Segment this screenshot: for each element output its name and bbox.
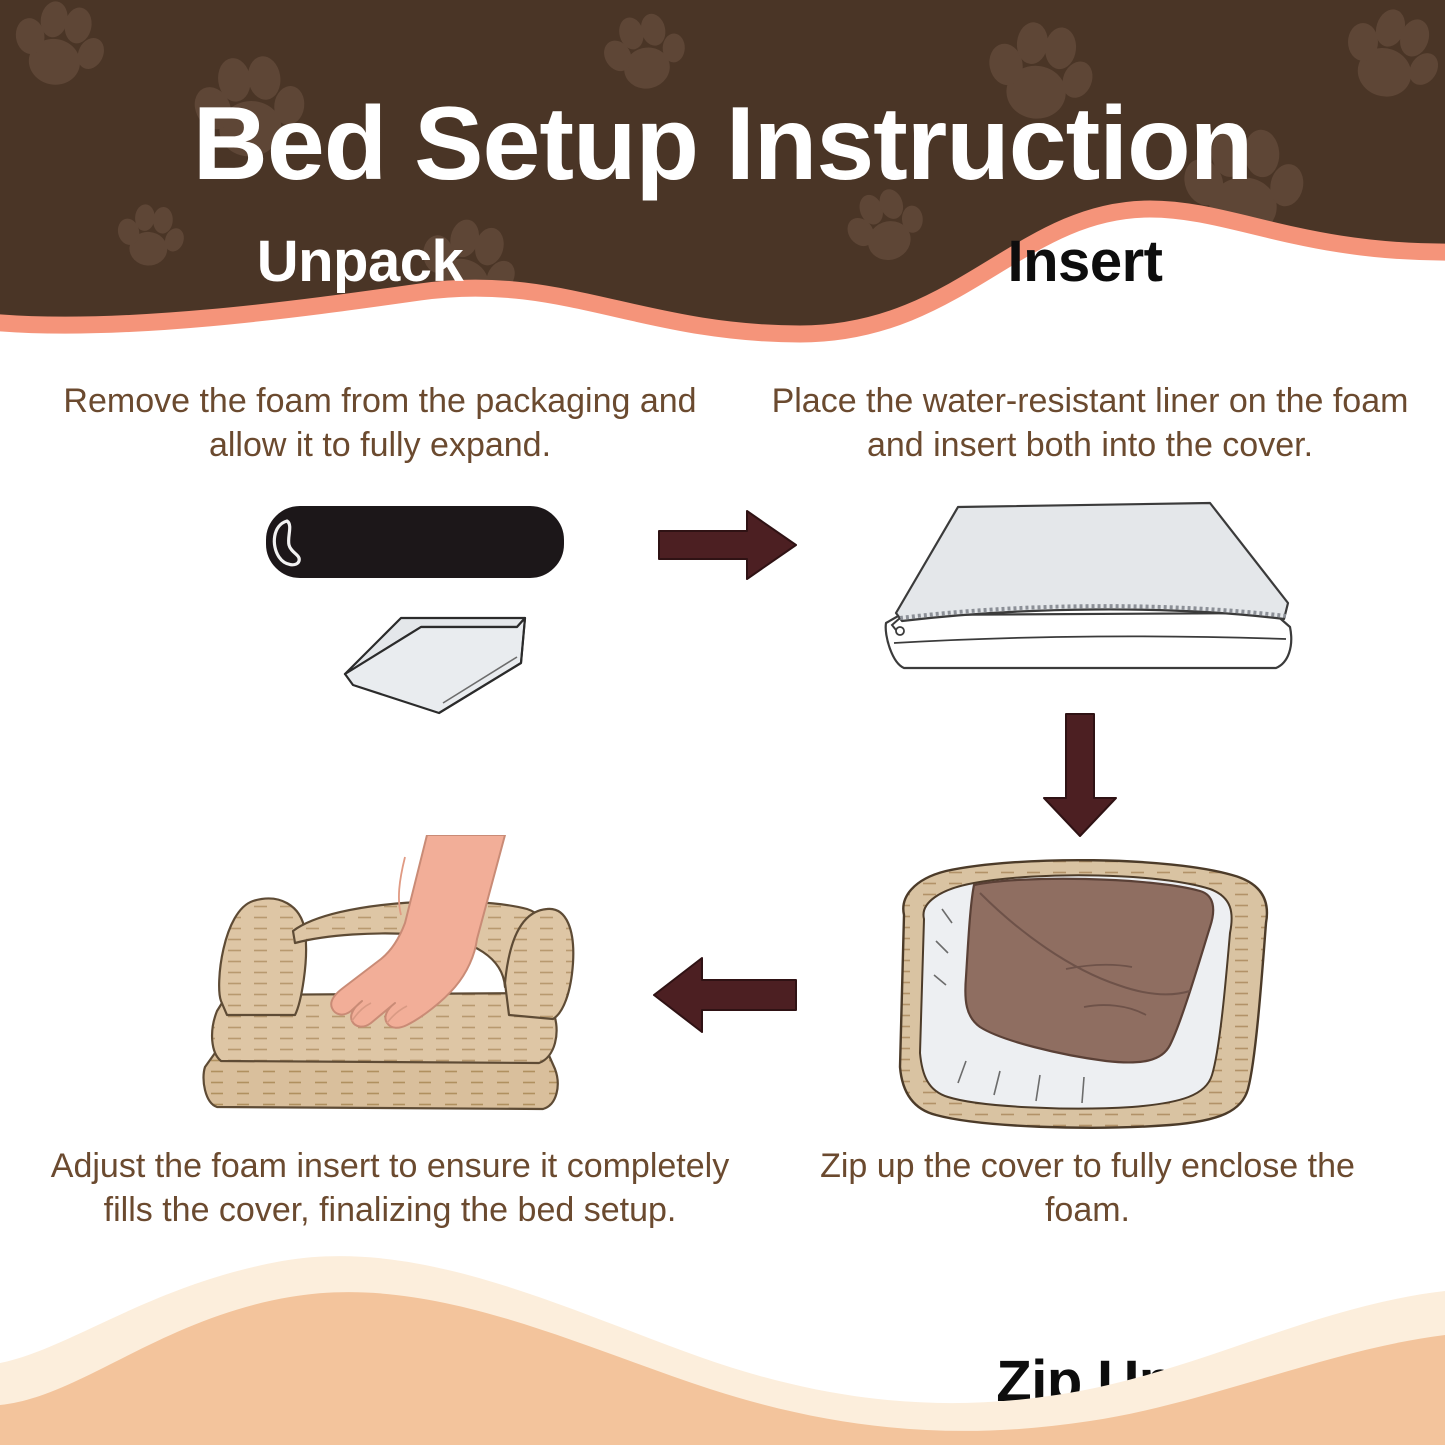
rolled-foam-icon: [267, 507, 563, 577]
arrow-left-icon: [654, 958, 796, 1032]
page-title: Bed Setup Instruction: [0, 88, 1445, 200]
arrow-insert-to-zipup: [1020, 710, 1140, 840]
step-label-insert: Insert: [725, 228, 1445, 295]
bed-bolster-left: [219, 899, 306, 1015]
cushion-top-panel: [896, 503, 1288, 621]
step-label-unpack: Unpack: [0, 228, 720, 295]
arrow-right-icon: [659, 511, 796, 579]
caption-zipup: Zip up the cover to fully enclose the fo…: [775, 1145, 1400, 1232]
liner-sheet-icon: [345, 618, 525, 713]
arrow-unpack-to-insert: [655, 505, 800, 585]
illustration-hand-pressing-bed: [175, 835, 615, 1135]
arrow-down-icon: [1044, 714, 1116, 836]
arrow-zipup-to-fluff: [650, 950, 800, 1040]
illustration-open-cover-with-insert: [870, 845, 1290, 1135]
bed-setup-instruction-poster: Bed Setup Instruction Unpack Insert Fluf…: [0, 0, 1445, 1445]
illustration-rolled-foam-and-liner: [225, 485, 605, 720]
caption-unpack: Remove the foam from the packaging and a…: [60, 380, 700, 467]
caption-fluff: Adjust the foam insert to ensure it comp…: [50, 1145, 730, 1232]
footer-waves: [0, 1245, 1445, 1445]
illustration-zippered-cushion: [870, 485, 1310, 690]
caption-insert: Place the water-resistant liner on the f…: [760, 380, 1420, 467]
